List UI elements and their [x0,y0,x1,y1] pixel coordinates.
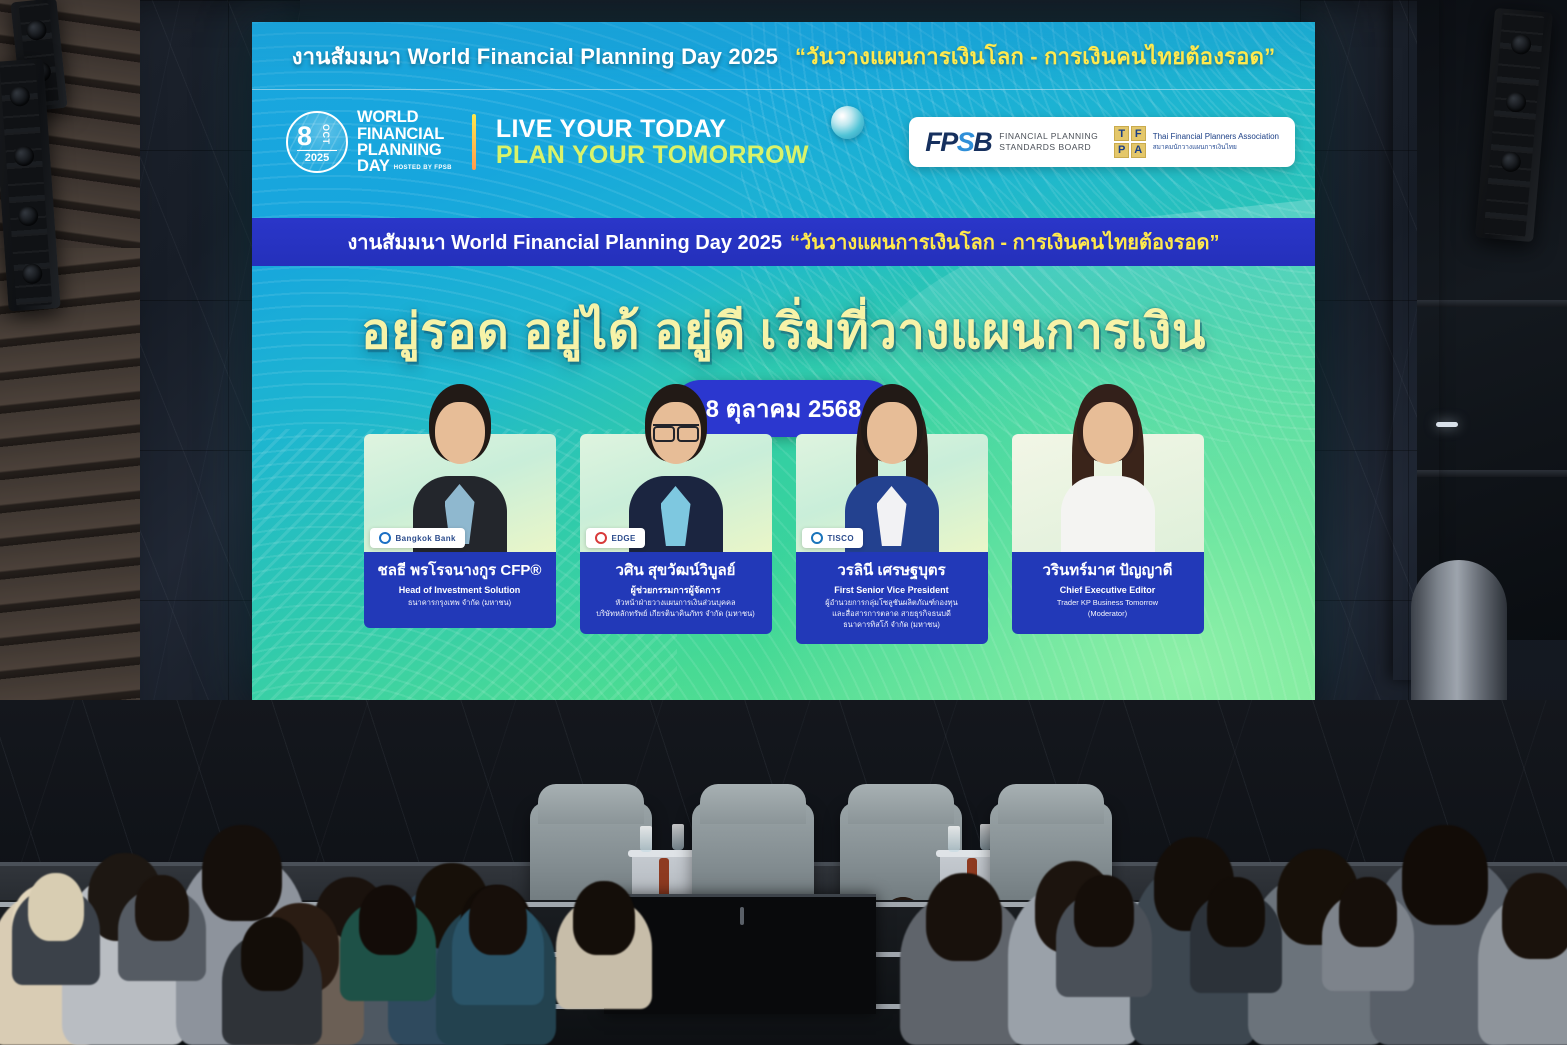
speaker-info: ชลธี พรโรจนางกูร CFP® Head of Investment… [364,552,556,628]
wall-sconce-right [1436,422,1458,427]
speaker-card: วรินทร์มาศ ปัญญาดี Chief Executive Edito… [1012,434,1204,644]
panel-latch [740,907,744,925]
speaker-title: Chief Executive Editor [1019,584,1197,596]
wfpd-day-number: 8 [297,123,312,150]
water-glass [948,826,960,852]
speaker-card: Bangkok Bank ชลธี พรโรจนางกูร CFP® Head … [364,434,556,644]
audience-member [118,889,206,981]
speaker-portrait [1060,384,1156,552]
banner-white-text: งานสัมมนา World Financial Planning Day 2… [347,226,782,258]
speaker-org: หัวหน้าฝ่ายวางแผนการเงินส่วนบุคคล บริษัท… [587,598,765,620]
speaker-info: วรลินี เศรษฐบุตร First Senior Vice Presi… [796,552,988,644]
screen-headline: อยู่รอด อยู่ได้ อยู่ดี เริ่มที่วางแผนการ… [252,292,1315,370]
speaker-title: First Senior Vice President [803,584,981,596]
audience-member [452,901,544,1005]
speaker-portrait [628,384,724,552]
speaker-cards-row: Bangkok Bank ชลธี พรโรจนางกูร CFP® Head … [252,434,1315,644]
water-glass [640,826,652,852]
water-glass [672,824,684,850]
panelist-1 [690,724,820,914]
speaker-photo [1012,434,1204,552]
fpsb-subtitle-line-1: FINANCIAL PLANNING [999,131,1098,142]
tfpa-tile-a: A [1131,143,1146,158]
employer-logo-text: TISCO [828,534,854,543]
screen-blue-banner: งานสัมมนา World Financial Planning Day 2… [252,218,1315,266]
speaker-name: วศิน สุขวัฒน์วิบูลย์ [587,562,765,580]
audience-member [222,933,322,1045]
tfpa-name-en: Thai Financial Planners Association [1153,131,1279,143]
audience-member [1322,893,1414,991]
employer-logo-tisco: TISCO [802,528,863,548]
speaker-info: วศิน สุขวัฒน์วิบูลย์ ผู้ช่วยกรรมการผู้จั… [580,552,772,634]
logo-divider [472,114,476,170]
banner-yellow-text: “วันวางแผนการเงินโลก - การเงินคนไทยต้องร… [790,226,1220,258]
speaker-card: TISCO วรลินี เศรษฐบุตร First Senior Vice… [796,434,988,644]
wfpd-year: 2025 [297,150,337,164]
conference-stage-photo: งานสัมมนา World Financial Planning Day 2… [0,0,1567,1045]
speaker-photo: EDGE [580,434,772,552]
speaker-card: EDGE วศิน สุขวัฒน์วิบูลย์ ผู้ช่วยกรรมการ… [580,434,772,644]
employer-logo-text: Bangkok Bank [396,534,456,543]
speaker-photo: Bangkok Bank [364,434,556,552]
audience-member [340,901,436,1001]
fpsb-subtitle-line-2: STANDARDS BOARD [999,142,1098,153]
speaker-info: วรินทร์มาศ ปัญญาดี Chief Executive Edito… [1012,552,1204,634]
partner-logos-box: FPSB FINANCIAL PLANNING STANDARDS BOARD … [909,117,1295,167]
fpsb-subtitle: FINANCIAL PLANNING STANDARDS BOARD [999,131,1098,154]
tfpa-tile-f: F [1131,126,1146,141]
wfpd-word-1: WORLD [357,109,452,125]
fpsb-logo: FPSB FINANCIAL PLANNING STANDARDS BOARD [925,127,1098,158]
speaker-portrait [844,384,940,552]
speaker-name: ชลธี พรโรจนางกูร CFP® [371,562,549,580]
audience-member [12,889,100,985]
audience-member [556,899,652,1009]
speaker-photo: TISCO [796,434,988,552]
employer-logo-edge: EDGE [586,528,645,548]
tfpa-name-th: สมาคมนักวางแผนการเงินไทย [1153,143,1279,153]
wfpd-wordmark: WORLD FINANCIAL PLANNING DAYHOSTED BY FP… [357,109,452,174]
globe-sphere-icon [831,106,864,139]
wfpd-hosted-by: HOSTED BY FPSB [394,166,452,172]
top-title-white: งานสัมมนา World Financial Planning Day 2… [292,44,778,69]
speaker-title: ผู้ช่วยกรรมการผู้จัดการ [587,584,765,596]
wfpd-word-3: PLANNING [357,142,452,158]
speaker-org: ธนาคารกรุงเทพ จำกัด (มหาชน) [371,598,549,609]
wfpd-logo: 8 OCT 2025 WORLD FINANCIAL PLANNING DAYH… [286,109,452,174]
fpsb-wordmark: FPSB [925,127,991,158]
tfpa-tile-p: P [1114,143,1129,158]
speaker-name: วรินทร์มาศ ปัญญาดี [1019,562,1197,580]
top-title-yellow: “วันวางแผนการเงินโลก - การเงินคนไทยต้องร… [795,44,1275,69]
employer-logo-bangkok-bank: Bangkok Bank [370,528,465,548]
wfpd-month: OCT [321,124,331,145]
employer-logo-text: EDGE [612,534,636,543]
speaker-portrait [412,384,508,552]
tfpa-logo: T F P A Thai Financial Planners Associat… [1114,126,1279,158]
wfpd-word-2: FINANCIAL [357,126,452,142]
tfpa-letter-tiles: T F P A [1114,126,1146,158]
audience-member [1190,893,1282,993]
screen-logo-row: 8 OCT 2025 WORLD FINANCIAL PLANNING DAYH… [252,94,1315,190]
audience-member [1478,895,1567,1045]
speaker-org: Trader KP Business Tomorrow (Moderator) [1019,598,1197,620]
tagline-line-1: LIVE YOUR TODAY [496,116,809,143]
globe-icon: 8 OCT 2025 [286,111,348,173]
wfpd-word-4: DAY [357,157,390,175]
screen-top-title-bar: งานสัมมนา World Financial Planning Day 2… [252,22,1315,90]
tfpa-name: Thai Financial Planners Association สมาค… [1153,131,1279,153]
tagline-line-2: PLAN YOUR TOMORROW [496,142,809,169]
speaker-name: วรลินี เศรษฐบุตร [803,562,981,580]
speaker-title: Head of Investment Solution [371,584,549,596]
speaker-org: ผู้อำนวยการกลุ่มโซลูชันผลิตภัณฑ์กองทุน แ… [803,598,981,631]
tfpa-tile-t: T [1114,126,1129,141]
audience-member [1056,893,1152,997]
led-presentation-screen: งานสัมมนา World Financial Planning Day 2… [252,22,1315,700]
event-tagline: LIVE YOUR TODAY PLAN YOUR TOMORROW [496,116,809,169]
